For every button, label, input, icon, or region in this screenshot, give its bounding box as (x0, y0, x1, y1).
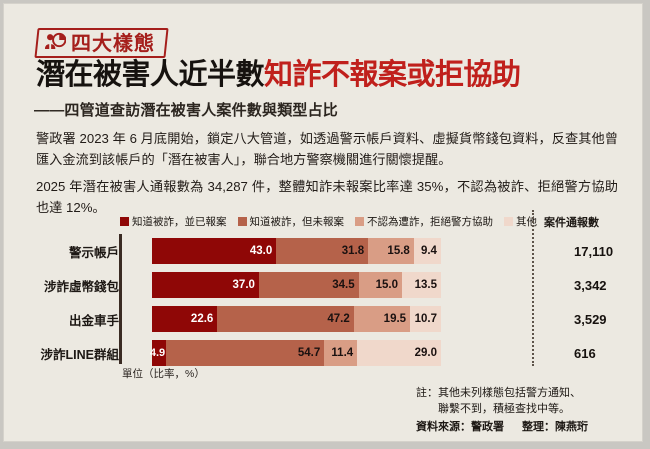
row-label-2: 出金車手 (34, 310, 119, 329)
bar-segment-0-0: 43.0 (152, 238, 276, 264)
bar-segment-0-3: 9.4 (414, 238, 441, 264)
stacked-bar-1: 37.0 34.5 15.0 13.5 (152, 272, 441, 298)
note-line-1: 註：其他未列樣態包括警方通知、 (416, 387, 581, 399)
bar-segment-0-2: 15.8 (368, 238, 414, 264)
bar-segment-1-2: 15.0 (359, 272, 402, 298)
legend-swatch-3 (504, 217, 513, 226)
headline-red: 知詐不報案或拒協助 (264, 59, 521, 91)
headline-black: 潛在被害人近半數 (36, 59, 264, 91)
row-label-0: 警示帳戶 (34, 242, 119, 261)
bar-segment-3-1: 54.7 (166, 340, 324, 366)
row-total-3: 616 (574, 346, 596, 361)
stacked-bar-2: 22.6 47.2 19.5 10.7 (152, 306, 441, 332)
category-badge: 四大樣態 (34, 28, 168, 58)
legend-swatch-2 (355, 217, 364, 226)
editor-label: 整理：陳燕珩 (522, 421, 588, 433)
table-row: 涉詐虛幣錢包 37.0 34.5 15.0 13.5 3,342 (34, 272, 614, 298)
source-line: 資料來源：警政署整理：陳燕珩 (416, 418, 588, 434)
bar-segment-2-2: 19.5 (354, 306, 410, 332)
legend-label-2: 不認為遭詐，拒絕警方協助 (367, 214, 493, 229)
legend-label-1: 知道被詐，但未報案 (250, 214, 345, 229)
note-line-2: 聯繫不到，積極查找中等。 (416, 402, 581, 418)
table-row: 出金車手 22.6 47.2 19.5 10.7 3,529 (34, 306, 614, 332)
source-label: 資料來源：警政署 (416, 421, 504, 433)
legend-swatch-0 (120, 217, 129, 226)
bar-segment-2-0: 22.6 (152, 306, 217, 332)
body-copy: 警政署 2023 年 6 月底開始，鎖定八大管道，如透過警示帳戶資料、虛擬貨幣錢… (36, 129, 618, 224)
body-paragraph-1: 警政署 2023 年 6 月底開始，鎖定八大管道，如透過警示帳戶資料、虛擬貨幣錢… (36, 129, 618, 171)
table-row: 警示帳戶 43.0 31.8 15.8 9.4 17,110 (34, 238, 614, 264)
bar-segment-3-2: 11.4 (324, 340, 357, 366)
chart-note: 註：其他未列樣態包括警方通知、 聯繫不到，積極查找中等。 (416, 386, 581, 418)
legend-label-0: 知道被詐，並已報案 (132, 214, 227, 229)
badge-label: 四大樣態 (71, 33, 155, 53)
person-piechart-icon (44, 32, 66, 55)
row-label-1: 涉詐虛幣錢包 (34, 276, 119, 295)
legend-item-0: 知道被詐，並已報案 (120, 214, 227, 229)
bar-segment-1-1: 34.5 (259, 272, 359, 298)
bar-segment-2-1: 47.2 (217, 306, 353, 332)
legend-item-1: 知道被詐，但未報案 (238, 214, 345, 229)
row-total-1: 3,342 (574, 278, 607, 293)
page-subtitle: ——四管道查訪潛在被害人案件數與類型占比 (34, 99, 338, 120)
axis-unit-label: 單位（比率，%） (122, 366, 205, 381)
bar-segment-1-0: 37.0 (152, 272, 259, 298)
stacked-bar-0: 43.0 31.8 15.8 9.4 (152, 238, 441, 264)
row-total-2: 3,529 (574, 312, 607, 327)
row-label-3: 涉詐LINE群組 (34, 344, 119, 363)
page-title: 潛在被害人近半數知詐不報案或拒協助 (36, 60, 521, 91)
bar-segment-2-3: 10.7 (410, 306, 441, 332)
infographic-canvas: 四大樣態 潛在被害人近半數知詐不報案或拒協助 ——四管道查訪潛在被害人案件數與類… (4, 4, 642, 441)
totals-column-header: 案件通報數 (544, 214, 599, 230)
stacked-bar-3: 4.9 54.7 11.4 29.0 (152, 340, 441, 366)
bar-segment-3-0: 4.9 (152, 340, 166, 366)
body-paragraph-2: 2025 年潛在被害人通報數為 34,287 件，整體知詐未報案比率達 35%，… (36, 177, 618, 219)
legend-item-2: 不認為遭詐，拒絕警方協助 (355, 214, 493, 229)
legend-swatch-1 (238, 217, 247, 226)
row-total-0: 17,110 (574, 244, 613, 259)
bar-segment-3-3: 29.0 (357, 340, 441, 366)
chart-legend: 知道被詐，並已報案 知道被詐，但未報案 不認為遭詐，拒絕警方協助 其他 (120, 214, 537, 229)
bar-segment-0-1: 31.8 (276, 238, 368, 264)
table-row: 涉詐LINE群組 4.9 54.7 11.4 29.0 616 (34, 340, 614, 366)
bar-segment-1-3: 13.5 (402, 272, 441, 298)
